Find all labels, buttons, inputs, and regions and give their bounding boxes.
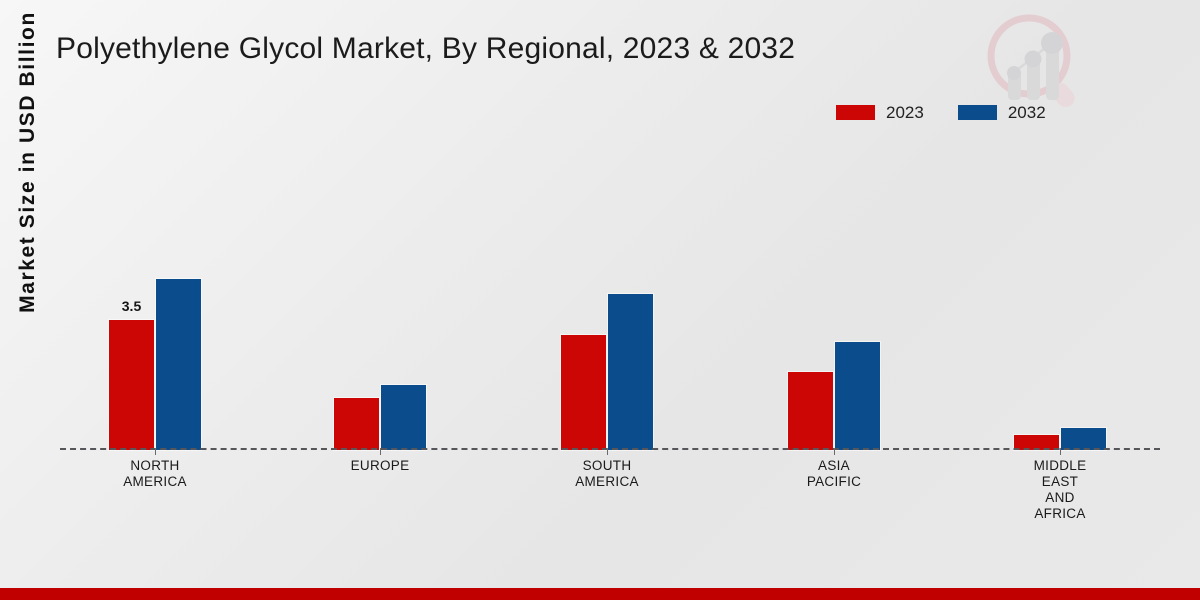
x-axis-label-line: AND	[975, 490, 1145, 506]
x-axis-label-middle-east-and-africa: MIDDLEEASTANDAFRICA	[975, 458, 1145, 522]
bar-group: 3.5	[109, 140, 201, 450]
legend-item-2023[interactable]: 2023	[836, 104, 924, 121]
x-axis-label-line: AMERICA	[522, 474, 692, 490]
x-axis-label-europe: EUROPE	[295, 458, 465, 474]
x-axis-label-line: ASIA	[749, 458, 919, 474]
bar-group	[788, 140, 880, 450]
watermark-logo-icon	[982, 10, 1092, 110]
bar-2023-south-america[interactable]	[561, 335, 606, 450]
bar-2032-asia-pacific[interactable]	[835, 342, 880, 450]
bar-2032-europe[interactable]	[381, 385, 426, 450]
bar-group	[561, 140, 653, 450]
x-axis-label-line: EAST	[975, 474, 1145, 490]
x-axis-label-line: PACIFIC	[749, 474, 919, 490]
bar-2023-north-america[interactable]: 3.5	[109, 320, 154, 450]
bar-2032-middle-east-and-africa[interactable]	[1061, 428, 1106, 450]
chart-canvas: Polyethylene Glycol Market, By Regional,…	[0, 0, 1200, 600]
bar-group	[334, 140, 426, 450]
bar-2032-south-america[interactable]	[608, 294, 653, 450]
legend-swatch-2023-icon	[836, 105, 875, 120]
x-axis-label-line: NORTH	[70, 458, 240, 474]
footer-accent-bar	[0, 588, 1200, 600]
legend-swatch-2032-icon	[958, 105, 997, 120]
legend-label-2032: 2032	[1008, 104, 1046, 121]
bar-2032-north-america[interactable]	[156, 279, 201, 450]
x-axis-baseline	[60, 448, 1160, 450]
x-axis-tick	[607, 448, 608, 455]
x-axis-label-south-america: SOUTHAMERICA	[522, 458, 692, 490]
x-axis-tick	[1060, 448, 1061, 455]
x-axis-tick	[834, 448, 835, 455]
x-axis-label-asia-pacific: ASIAPACIFIC	[749, 458, 919, 490]
plot-area: 3.5	[60, 140, 1160, 450]
legend-item-2032[interactable]: 2032	[958, 104, 1046, 121]
x-axis-tick	[380, 448, 381, 455]
x-axis-label-line: SOUTH	[522, 458, 692, 474]
x-axis-label-line: MIDDLE	[975, 458, 1145, 474]
x-axis-label-line: AFRICA	[975, 506, 1145, 522]
x-axis-tick	[155, 448, 156, 455]
x-axis-label-north-america: NORTHAMERICA	[70, 458, 240, 490]
legend-label-2023: 2023	[886, 104, 924, 121]
chart-legend: 2023 2032	[836, 104, 1046, 121]
x-axis-label-line: EUROPE	[295, 458, 465, 474]
x-axis-label-line: AMERICA	[70, 474, 240, 490]
bar-value-label: 3.5	[122, 298, 141, 314]
bar-group	[1014, 140, 1106, 450]
bar-2023-asia-pacific[interactable]	[788, 372, 833, 450]
bar-2023-europe[interactable]	[334, 398, 379, 450]
chart-title: Polyethylene Glycol Market, By Regional,…	[56, 32, 795, 66]
y-axis-title: Market Size in USD Billion	[16, 2, 40, 322]
